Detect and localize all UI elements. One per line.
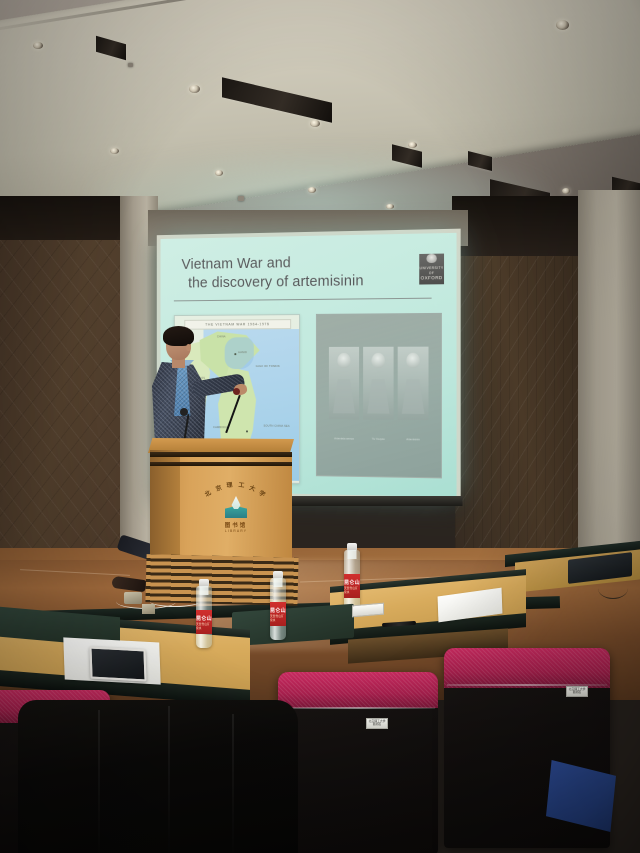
portrait-head	[372, 353, 385, 368]
bottle-label: 昆仑山 天然雪山矿泉水	[196, 610, 212, 634]
oxford-logo-line-1: UNIVERSITY OF	[419, 266, 444, 276]
map-label: SOUTH CHINA SEA	[264, 425, 290, 428]
podium-label-english: LIBRARY	[205, 529, 267, 533]
map-city-dot	[246, 430, 248, 432]
downlight-icon	[310, 120, 320, 127]
seat-piping	[281, 707, 435, 709]
bottle-brand-chinese: 昆仑山	[344, 579, 360, 586]
map-label: HANOI	[238, 351, 247, 354]
oxford-crest-icon	[426, 254, 436, 263]
black-coat[interactable]	[18, 700, 298, 853]
coat-fold	[98, 710, 100, 853]
emblem-char: 工	[238, 480, 245, 490]
water-bottle: 昆仑山 天然雪山矿泉水	[270, 578, 286, 640]
downlight-icon	[562, 188, 570, 194]
sprinkler-icon	[238, 196, 244, 201]
bottle-brand-sub: 天然雪山矿泉水	[196, 622, 212, 630]
coat-fold	[232, 714, 234, 853]
laptop-cable	[598, 578, 628, 599]
oxford-university-logo: UNIVERSITY OF OXFORD	[419, 254, 444, 285]
bottle-brand-sub: 天然雪山矿泉水	[344, 586, 360, 594]
water-bottle: 昆仑山 天然雪山矿泉水	[196, 586, 212, 648]
map-label: CHINA	[217, 335, 226, 338]
downlight-icon	[386, 204, 394, 209]
slide-title: Vietnam War and the discovery of artemis…	[181, 252, 429, 293]
downlight-icon	[215, 170, 223, 176]
portrait-caption: Tu Youyou	[363, 437, 393, 442]
downlight-icon	[189, 85, 200, 93]
water-bottle: 昆仑山 天然雪山矿泉水	[344, 550, 360, 612]
downlight-icon	[556, 20, 569, 30]
three-portraits-panel: Artemisia annua Tu Youyou Artemisinin	[316, 313, 442, 479]
oxford-logo-line-2: OXFORD	[421, 275, 443, 282]
portrait-body	[367, 379, 389, 414]
bottle-brand-chinese: 昆仑山	[196, 615, 212, 622]
emblem-char: 大	[248, 483, 257, 494]
seat-number-label: 北京理工大学 图书馆	[366, 718, 388, 729]
bottle-brand-sub: 天然雪山矿泉水	[270, 614, 286, 622]
emblem-char: 理	[226, 480, 233, 490]
portrait-head	[406, 353, 419, 368]
seat-fabric-texture	[444, 648, 610, 688]
podium-trim-strip	[150, 462, 292, 466]
right-wall-upper-shadow	[452, 196, 592, 256]
slide-title-rule	[174, 298, 432, 302]
bottle-neck	[200, 586, 209, 595]
microphone-icon	[180, 408, 188, 416]
bottle-neck	[274, 578, 283, 587]
seat-fabric-texture	[278, 672, 438, 708]
emblem-char: 北	[203, 488, 213, 499]
emblem-char: 学	[257, 488, 267, 499]
bottle-label: 昆仑山 天然雪山矿泉水	[270, 602, 286, 626]
auditorium-seat[interactable]: 北京理工大学 图书馆	[278, 672, 438, 853]
slide-title-line-2: the discovery of artemisinin	[188, 271, 429, 293]
seat-label-line-2: 图书馆	[367, 723, 387, 726]
podium-trim-strip	[150, 452, 292, 457]
emblem-arc-text: 北 京 理 工 大 学	[205, 480, 267, 496]
sprinkler-icon	[128, 63, 133, 67]
downlight-icon	[308, 187, 316, 193]
portrait-figure: Artemisia annua	[329, 347, 359, 420]
portrait-figure: Artemisinin	[398, 347, 429, 420]
seat-number-label: 北京理工大学 图书馆	[566, 686, 588, 697]
floor-power-adapter	[124, 592, 142, 604]
floor-paper-scrap	[142, 604, 155, 614]
map-label: GULF OF TONKIN	[256, 365, 280, 368]
portrait-head	[337, 353, 350, 368]
library-logo-icon	[225, 496, 247, 518]
slide-title-line-1: Vietnam War and	[181, 255, 290, 273]
white-tablet	[89, 646, 146, 681]
portrait-figure: Tu Youyou	[363, 347, 393, 420]
portrait-body	[333, 379, 355, 413]
map-city-dot	[234, 353, 236, 355]
downlight-icon	[408, 142, 417, 148]
coat-fold	[168, 706, 170, 853]
seat-top-cushion	[278, 672, 438, 708]
speaker-jacket-texture	[152, 362, 206, 448]
seat-label-line-2: 图书馆	[567, 691, 587, 694]
map-header-label: THE VIETNAM WAR 1964-1975	[184, 319, 291, 330]
speaker-ear	[186, 344, 191, 351]
emblem-char: 京	[214, 483, 223, 494]
downlight-icon	[33, 42, 43, 49]
portrait-body	[402, 379, 425, 414]
seat-top-cushion	[444, 648, 610, 688]
logo-flame-shape	[232, 496, 241, 509]
bottle-neck	[348, 550, 357, 559]
speaker-hair	[163, 326, 194, 346]
bottle-label: 昆仑山 天然雪山矿泉水	[344, 574, 360, 598]
lecture-hall-photograph: Vietnam War and the discovery of artemis…	[0, 0, 640, 853]
podium-emblem: 北 京 理 工 大 学 图书馆 LIBRARY	[205, 480, 267, 536]
podium-label-chinese: 图书馆	[205, 521, 267, 529]
portrait-caption: Artemisinin	[398, 438, 429, 443]
downlight-icon	[110, 148, 119, 154]
portrait-caption: Artemisia annua	[329, 437, 359, 442]
bottle-brand-chinese: 昆仑山	[270, 607, 286, 614]
